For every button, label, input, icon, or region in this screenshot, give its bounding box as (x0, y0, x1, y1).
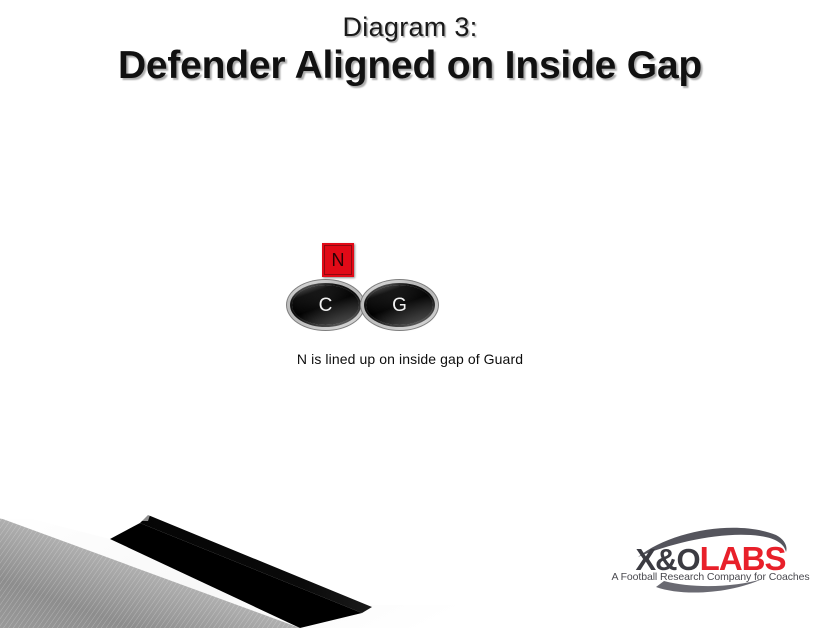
slide-canvas: Diagram 3: Defender Aligned on Inside Ga… (0, 0, 820, 628)
diagram-caption: N is lined up on inside gap of Guard (0, 351, 820, 367)
player-marker-defender-n[interactable]: N (322, 243, 354, 277)
player-label-c: C (292, 285, 359, 325)
logo-tagline: A Football Research Company for Coaches (608, 571, 813, 583)
player-label-n: N (322, 243, 354, 277)
title-line-2: Defender Aligned on Inside Gap (0, 46, 820, 85)
title-line-1: Diagram 3: (0, 14, 820, 41)
corner-decoration (0, 493, 560, 628)
brand-logo: X&OLABS A Football Research Company for … (608, 521, 813, 601)
player-label-g: G (366, 285, 433, 325)
page-title: Diagram 3: Defender Aligned on Inside Ga… (0, 14, 820, 85)
corner-decoration-graphic (0, 493, 560, 628)
player-marker-center-c[interactable]: C (292, 285, 359, 325)
player-marker-guard-g[interactable]: G (366, 285, 433, 325)
